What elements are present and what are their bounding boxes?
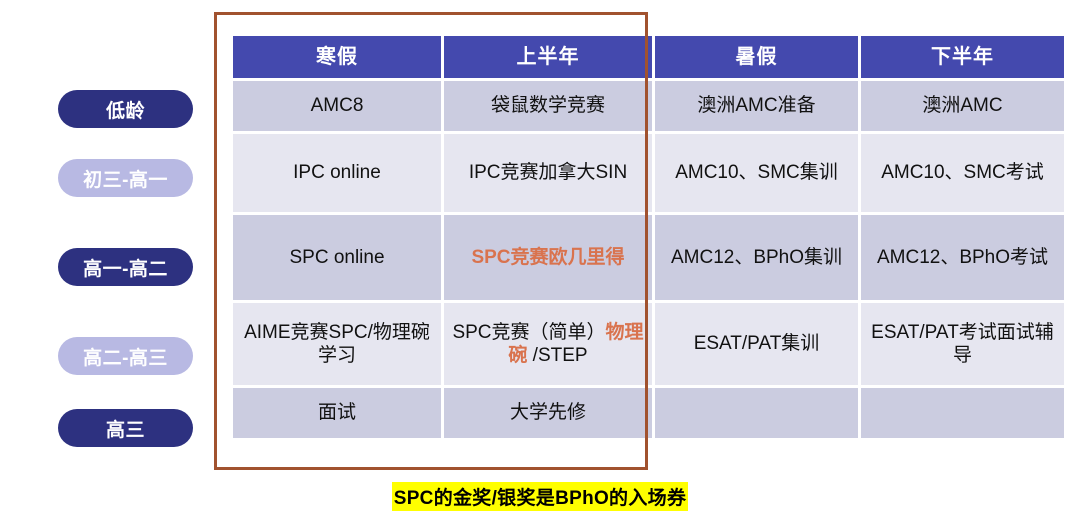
cell-line: 集训 [804,247,842,268]
cell-text: AMC10、SMC [881,162,1006,183]
table-cell: AIME竞赛SPC/物理碗学习 [233,303,441,385]
table-cell: SPC online [233,215,441,300]
stage-label-pill: 低龄 [58,90,193,128]
table-cell: SPC竞赛欧几里得 [444,215,652,300]
cell-line: SPC online [289,247,384,268]
table-row: 面试大学先修 [233,388,1064,438]
cell-line: IPC online [293,162,381,183]
cell-text: /STEP [527,345,587,366]
table-cell: ESAT/PAT集训 [655,303,858,385]
cell-text: 集训 [800,162,838,183]
table-cell: AMC10、SMC集训 [655,134,858,212]
cell-line: 澳洲AMC准备 [697,95,815,116]
cell-text: SPC/物理碗学习 [318,322,430,366]
cell-text: 澳洲AMC [922,95,1002,116]
column-header-winter-break: 寒假 [233,36,441,78]
cell-line: 加拿大SIN [539,162,628,183]
table-row: IPC onlineIPC竞赛加拿大SINAMC10、SMC集训AMC10、SM… [233,134,1064,212]
table-row: AMC8袋鼠数学竞赛澳洲AMC准备澳洲AMC [233,81,1064,131]
cell-line: SPC竞赛（简单） [452,322,605,343]
cell-text: 加拿大SIN [539,162,628,183]
cell-text: 面试 [318,402,356,423]
cell-text-accent: SPC竞赛 [471,247,548,268]
caption-row: SPC的金奖/银奖是BPhO的入场券 [0,482,1080,511]
cell-text: AMC12、BPhO [671,247,804,268]
cell-line: AIME竞赛 [244,322,328,343]
cell-line: AMC10、SMC [881,162,1006,183]
cell-line: AMC10、SMC [675,162,800,183]
cell-text: IPC竞赛 [469,162,539,183]
cell-line: 考试 [1006,162,1044,183]
column-header-first-half-year: 上半年 [444,36,652,78]
table-cell: ESAT/PAT考试面试辅导 [861,303,1064,385]
stage-label-pill: 高二-高三 [58,337,193,375]
cell-text: 集训 [804,247,842,268]
cell-line: 大学先修 [510,402,586,423]
stage-label-pill: 高三 [58,409,193,447]
cell-line: AMC12、BPhO [671,247,804,268]
table-header-row: 寒假 上半年 暑假 下半年 [233,36,1064,78]
cell-text: ESAT/PAT考试 [871,322,997,343]
cell-line: 面试 [318,402,356,423]
table-cell [861,388,1064,438]
stage-label-text: 低龄 [106,96,145,123]
competition-schedule-table: 寒假 上半年 暑假 下半年 AMC8袋鼠数学竞赛澳洲AMC准备澳洲AMCIPC … [230,33,1067,441]
cell-line: 集训 [800,162,838,183]
table-cell: AMC8 [233,81,441,131]
slide-canvas: 低龄初三-高一高一-高二高二-高三高三 寒假 上半年 暑假 下半年 AMC8袋鼠… [0,0,1080,527]
table-cell: 澳洲AMC准备 [655,81,858,131]
stage-label-text: 高一-高二 [83,254,168,281]
cell-text: AMC12、BPhO [877,247,1010,268]
cell-line: SPC竞赛 [471,247,548,268]
cell-line: IPC竞赛 [469,162,539,183]
table-cell: IPC竞赛加拿大SIN [444,134,652,212]
cell-line: AMC8 [311,95,364,116]
column-header-summer-break: 暑假 [655,36,858,78]
cell-line: SPC/物理碗学习 [318,322,430,366]
cell-text: AMC10、SMC [675,162,800,183]
table-cell: SPC竞赛（简单）物理碗 /STEP [444,303,652,385]
table-cell: 面试 [233,388,441,438]
table-cell: IPC online [233,134,441,212]
stage-label-text: 初三-高一 [83,165,168,192]
table-header: 寒假 上半年 暑假 下半年 [233,36,1064,78]
cell-text: 考试 [1006,162,1044,183]
cell-text: 袋鼠数学竞赛 [491,95,605,116]
cell-text-accent: 欧几里得 [549,247,625,268]
cell-text: ESAT/PAT集训 [694,333,820,354]
cell-text: SPC online [289,247,384,268]
cell-text: 澳洲AMC准备 [697,95,815,116]
stage-label-text: 高二-高三 [83,343,168,370]
cell-line: ESAT/PAT集训 [694,333,820,354]
cell-line: 考试 [1010,247,1048,268]
table-cell: AMC10、SMC考试 [861,134,1064,212]
cell-text: SPC竞赛（简单） [452,322,605,343]
cell-line: 袋鼠数学竞赛 [491,95,605,116]
table-cell: AMC12、BPhO集训 [655,215,858,300]
table-cell: 大学先修 [444,388,652,438]
table-row: AIME竞赛SPC/物理碗学习SPC竞赛（简单）物理碗 /STEPESAT/PA… [233,303,1064,385]
cell-text: AIME竞赛 [244,322,328,343]
stage-label-text: 高三 [106,415,145,442]
table-row: SPC onlineSPC竞赛欧几里得AMC12、BPhO集训AMC12、BPh… [233,215,1064,300]
cell-line: 澳洲AMC [922,95,1002,116]
stage-label-pill: 初三-高一 [58,159,193,197]
table-cell: 澳洲AMC [861,81,1064,131]
caption-text: SPC的金奖/银奖是BPhO的入场券 [392,482,689,511]
table-cell [655,388,858,438]
table-cell: 袋鼠数学竞赛 [444,81,652,131]
stage-label-pill: 高一-高二 [58,248,193,286]
cell-line: AMC12、BPhO [877,247,1010,268]
cell-line: 欧几里得 [549,247,625,268]
cell-text: 考试 [1010,247,1048,268]
cell-text: 大学先修 [510,402,586,423]
cell-text: AMC8 [311,95,364,116]
table-cell: AMC12、BPhO考试 [861,215,1064,300]
cell-text: IPC online [293,162,381,183]
cell-line: ESAT/PAT考试 [871,322,997,343]
column-header-second-half-year: 下半年 [861,36,1064,78]
table-body: AMC8袋鼠数学竞赛澳洲AMC准备澳洲AMCIPC onlineIPC竞赛加拿大… [233,81,1064,438]
